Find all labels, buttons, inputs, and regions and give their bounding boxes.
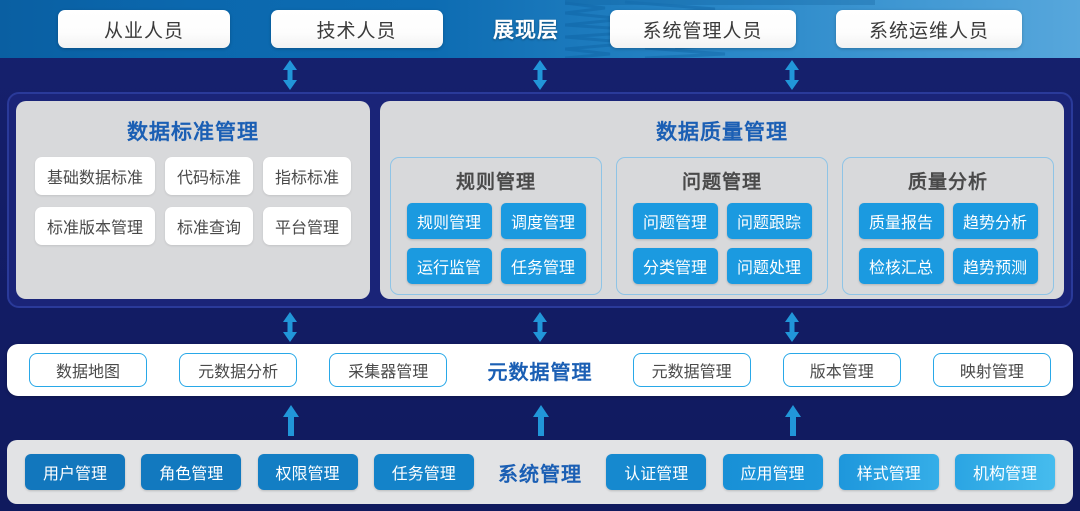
trend-analysis-button[interactable]: 趋势分析	[953, 203, 1038, 239]
metadata-layer-label: 元数据管理	[479, 356, 600, 385]
up-arrow-icon	[281, 404, 301, 436]
inspection-summary-button[interactable]: 检核汇总	[859, 248, 944, 284]
meta-data-map[interactable]: 数据地图	[29, 353, 147, 387]
sys-permission-management[interactable]: 权限管理	[258, 454, 358, 490]
subpanel-quality-analysis: 质量分析 质量报告 趋势分析 检核汇总 趋势预测	[842, 157, 1054, 295]
presentation-layer-label: 展现层	[483, 14, 569, 44]
rule-management-button[interactable]: 规则管理	[407, 203, 492, 239]
double-arrow-icon	[782, 58, 802, 92]
task-management-button[interactable]: 任务管理	[501, 248, 586, 284]
data-standard-panel-title: 数据标准管理	[127, 116, 259, 146]
actor-technician[interactable]: 技术人员	[271, 10, 443, 48]
sys-application-management[interactable]: 应用管理	[723, 454, 823, 490]
button-row: 分类管理 问题处理	[633, 248, 812, 284]
presentation-layer-band: 从业人员 技术人员 展现层 系统管理人员 系统运维人员	[0, 0, 1080, 58]
metadata-layer: 数据地图 元数据分析 采集器管理 元数据管理 元数据管理 版本管理 映射管理	[7, 344, 1073, 396]
double-arrow-icon	[530, 58, 550, 92]
sys-task-management[interactable]: 任务管理	[374, 454, 474, 490]
std-version-management[interactable]: 标准版本管理	[35, 207, 155, 245]
button-row: 质量报告 趋势分析	[859, 203, 1038, 239]
trend-forecast-button[interactable]: 趋势预测	[953, 248, 1038, 284]
issue-handling-button[interactable]: 问题处理	[727, 248, 812, 284]
sys-role-management[interactable]: 角色管理	[141, 454, 241, 490]
system-management-layer: 用户管理 角色管理 权限管理 任务管理 系统管理 认证管理 应用管理 样式管理 …	[7, 440, 1073, 504]
double-arrow-icon	[280, 58, 300, 92]
sys-organization-management[interactable]: 机构管理	[955, 454, 1055, 490]
subpanel-issue-management: 问题管理 问题管理 问题跟踪 分类管理 问题处理	[616, 157, 828, 295]
issue-management-button[interactable]: 问题管理	[633, 203, 718, 239]
std-standard-query[interactable]: 标准查询	[165, 207, 253, 245]
up-arrow-icon	[531, 404, 551, 436]
subpanel-rule-management: 规则管理 规则管理 调度管理 运行监管 任务管理	[390, 157, 602, 295]
sys-user-management[interactable]: 用户管理	[25, 454, 125, 490]
subpanel-rule-title: 规则管理	[456, 167, 536, 194]
std-code-standard[interactable]: 代码标准	[165, 157, 253, 195]
quality-report-button[interactable]: 质量报告	[859, 203, 944, 239]
std-indicator-standard[interactable]: 指标标准	[263, 157, 351, 195]
subpanel-quality-analysis-title: 质量分析	[908, 167, 988, 194]
system-layer-label: 系统管理	[490, 458, 590, 487]
runtime-monitoring-button[interactable]: 运行监管	[407, 248, 492, 284]
meta-metadata-management[interactable]: 元数据管理	[633, 353, 751, 387]
core-layer-frame: 数据标准管理 基础数据标准 代码标准 指标标准 标准版本管理 标准查询 平台管理…	[7, 92, 1073, 308]
connector-row-mid	[0, 310, 1080, 344]
issue-tracking-button[interactable]: 问题跟踪	[727, 203, 812, 239]
classification-management-button[interactable]: 分类管理	[633, 248, 718, 284]
subpanel-issue-title: 问题管理	[682, 167, 762, 194]
architecture-diagram: 从业人员 技术人员 展现层 系统管理人员 系统运维人员 数据标准管理 基础数据标…	[0, 0, 1080, 511]
double-arrow-icon	[782, 310, 802, 344]
data-standard-panel: 数据标准管理 基础数据标准 代码标准 指标标准 标准版本管理 标准查询 平台管理	[16, 101, 370, 299]
meta-mapping-management[interactable]: 映射管理	[933, 353, 1051, 387]
meta-collector-management[interactable]: 采集器管理	[329, 353, 447, 387]
actor-system-ops[interactable]: 系统运维人员	[836, 10, 1022, 48]
connector-row-top	[0, 58, 1080, 92]
data-quality-panel: 数据质量管理 规则管理 规则管理 调度管理 运行监管 任务管理	[380, 101, 1064, 299]
actor-system-admin[interactable]: 系统管理人员	[610, 10, 796, 48]
button-row: 规则管理 调度管理	[407, 203, 586, 239]
meta-metadata-analysis[interactable]: 元数据分析	[179, 353, 297, 387]
double-arrow-icon	[280, 310, 300, 344]
button-row: 问题管理 问题跟踪	[633, 203, 812, 239]
sys-style-management[interactable]: 样式管理	[839, 454, 939, 490]
connector-row-bottom	[0, 404, 1080, 436]
sys-authentication-management[interactable]: 认证管理	[606, 454, 706, 490]
double-arrow-icon	[530, 310, 550, 344]
actor-practitioner[interactable]: 从业人员	[58, 10, 230, 48]
std-platform-management[interactable]: 平台管理	[263, 207, 351, 245]
meta-version-management[interactable]: 版本管理	[783, 353, 901, 387]
std-basic-data-standard[interactable]: 基础数据标准	[35, 157, 155, 195]
up-arrow-icon	[783, 404, 803, 436]
data-quality-panel-title: 数据质量管理	[656, 116, 788, 146]
button-row: 检核汇总 趋势预测	[859, 248, 1038, 284]
schedule-management-button[interactable]: 调度管理	[501, 203, 586, 239]
standard-row: 标准版本管理 标准查询 平台管理	[35, 207, 351, 245]
standard-row: 基础数据标准 代码标准 指标标准	[35, 157, 351, 195]
button-row: 运行监管 任务管理	[407, 248, 586, 284]
